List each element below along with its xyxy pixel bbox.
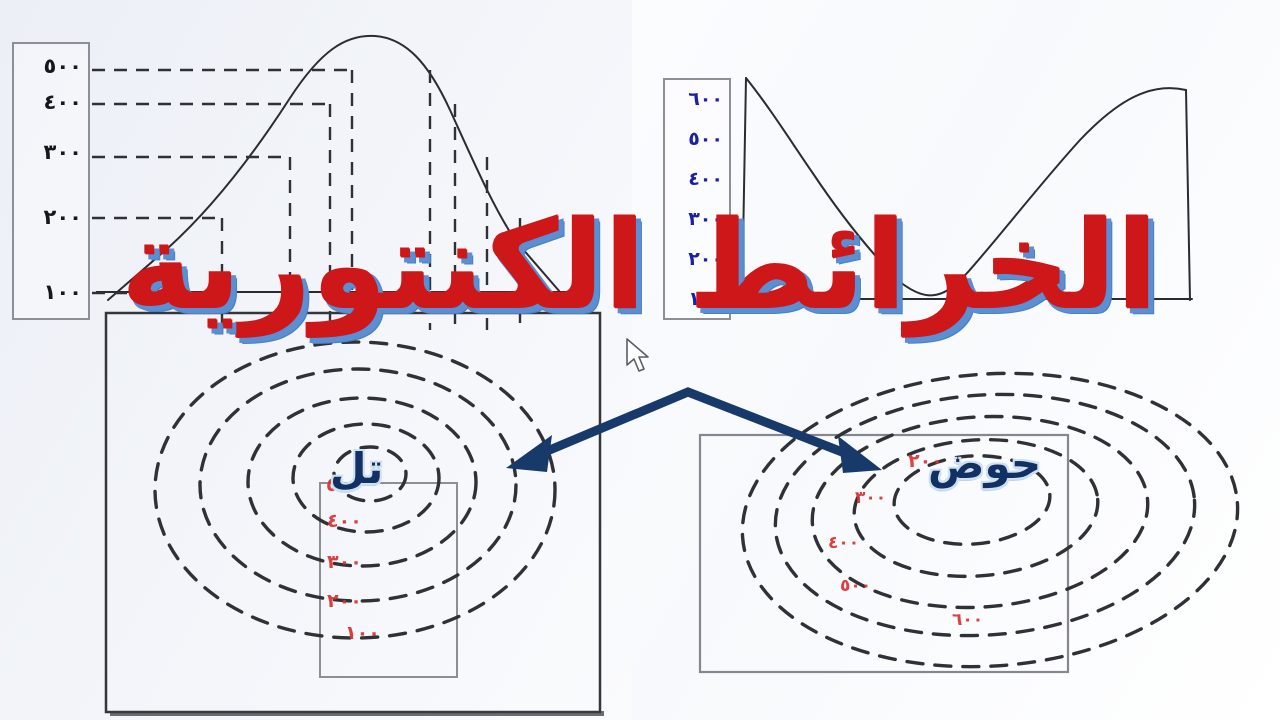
arrow-head-right — [838, 436, 882, 473]
slide-canvas: ٥٠٠ ٤٠٠ ٣٠٠ ٢٠٠ ١٠٠ ٦٠٠ ٥٠٠ ٤٠٠ ٣٠٠ ٢٠٠ … — [0, 0, 1280, 720]
region-label-hill: تل — [330, 448, 383, 490]
arrow-head-left — [506, 435, 552, 472]
mouse-cursor — [626, 338, 652, 376]
region-label-basin: حوض — [928, 443, 1041, 485]
double-headed-pointer-arrow — [533, 392, 855, 457]
